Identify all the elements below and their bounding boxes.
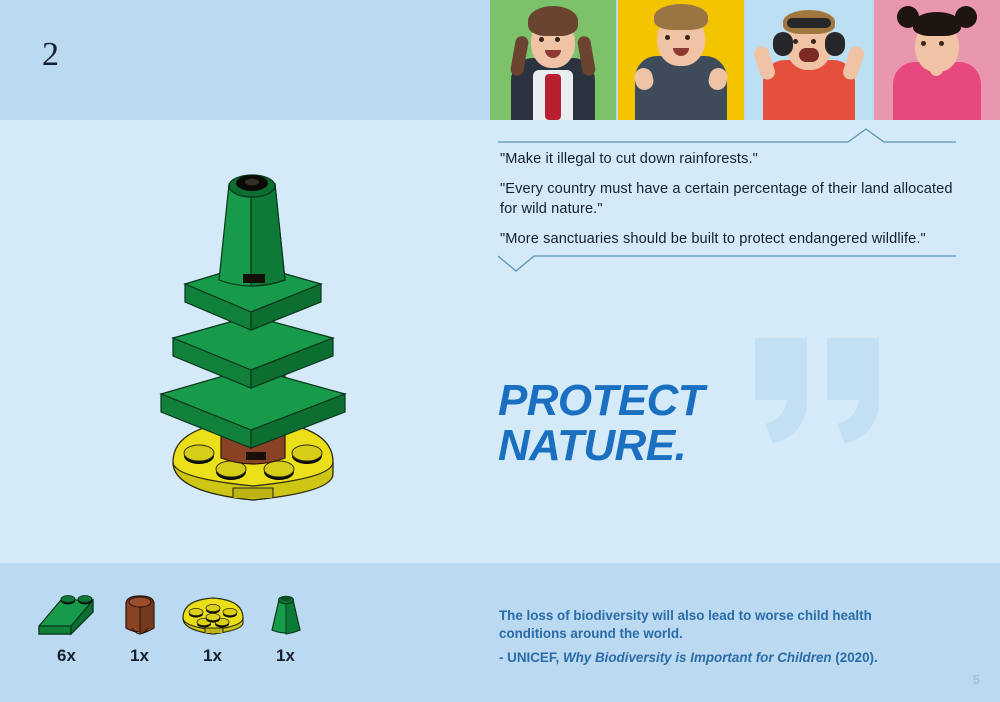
quote-list: "Make it illegal to cut down rainforests… bbox=[498, 144, 956, 254]
green-slope-brick-icon bbox=[30, 588, 103, 640]
quote-item: "Make it illegal to cut down rainforests… bbox=[500, 150, 956, 169]
slide-number: 2 bbox=[42, 38, 59, 72]
part-green-cone: 1x bbox=[249, 588, 322, 666]
part-quantity: 1x bbox=[103, 646, 176, 666]
child-figure bbox=[877, 8, 997, 120]
photo-boy-headphones-blue-background bbox=[746, 0, 872, 120]
quote-top-rule bbox=[498, 128, 956, 144]
brown-round-brick-icon bbox=[103, 588, 176, 640]
citation-title: Why Biodiversity is Important for Childr… bbox=[563, 650, 832, 665]
part-quantity: 1x bbox=[176, 646, 249, 666]
photo-girl-shushing-pink-background bbox=[874, 0, 1000, 120]
part-green-slope-brick: 6x bbox=[30, 588, 103, 666]
lego-tree-model bbox=[133, 162, 373, 512]
page-title-line-1: PROTECT bbox=[498, 378, 704, 423]
child-figure bbox=[493, 12, 613, 120]
photo-girl-smiling-green-background bbox=[490, 0, 616, 120]
child-figure bbox=[619, 10, 743, 120]
green-cone-icon bbox=[249, 588, 322, 640]
page-number: 5 bbox=[973, 672, 980, 687]
green-cone-top bbox=[219, 175, 285, 286]
quote-bottom-rule bbox=[498, 254, 956, 270]
child-figure bbox=[746, 10, 872, 120]
citation-prefix: - UNICEF, bbox=[499, 650, 563, 665]
photo-strip bbox=[490, 0, 1000, 120]
page-title: PROTECT NATURE. bbox=[498, 378, 704, 469]
photo-boy-thumbs-up-yellow-background bbox=[618, 0, 744, 120]
source-statement: The loss of biodiversity will also lead … bbox=[499, 607, 929, 642]
page-title-line-2: NATURE. bbox=[498, 423, 704, 468]
part-yellow-round-plate: 1x bbox=[176, 588, 249, 666]
yellow-round-plate-icon bbox=[176, 588, 249, 640]
decorative-quote-mark-icon bbox=[755, 338, 885, 446]
quote-item: "Every country must have a certain perce… bbox=[500, 180, 956, 219]
part-quantity: 1x bbox=[249, 646, 322, 666]
parts-list: 6x 1x bbox=[30, 588, 322, 666]
source-note: The loss of biodiversity will also lead … bbox=[499, 607, 929, 665]
source-citation: - UNICEF, Why Biodiversity is Important … bbox=[499, 650, 929, 665]
citation-suffix: (2020). bbox=[832, 650, 878, 665]
part-brown-round-brick: 1x bbox=[103, 588, 176, 666]
quote-item: "More sanctuaries should be built to pro… bbox=[500, 230, 956, 249]
part-quantity: 6x bbox=[30, 646, 103, 666]
slide-root: 2 bbox=[0, 0, 1000, 702]
quote-box: "Make it illegal to cut down rainforests… bbox=[498, 128, 956, 270]
